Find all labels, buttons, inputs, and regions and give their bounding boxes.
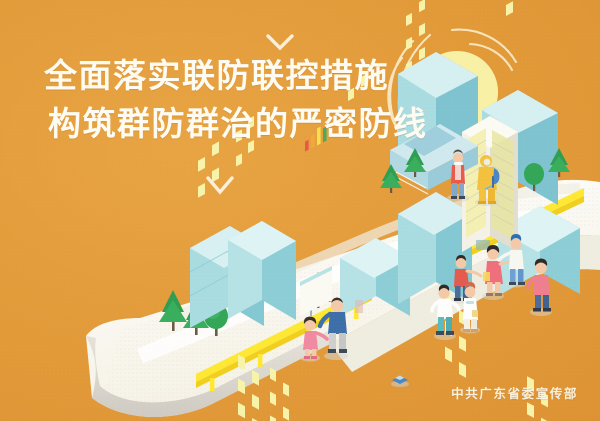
poster-canvas: 全面落实联防联控措施 构筑群防群治的严密防线 中共广东省委宣传部	[0, 0, 600, 421]
headline-line-1: 全面落实联防联控措施	[44, 52, 444, 100]
chevron-decoration-top	[268, 36, 292, 48]
publisher-signature: 中共广东省委宣传部	[451, 383, 578, 402]
page-title: 全面落实联防联控措施 构筑群防群治的严密防线	[44, 52, 444, 148]
chevron-decoration-mid	[208, 178, 232, 192]
headline-line-2: 构筑群防群治的严密防线	[48, 100, 444, 148]
